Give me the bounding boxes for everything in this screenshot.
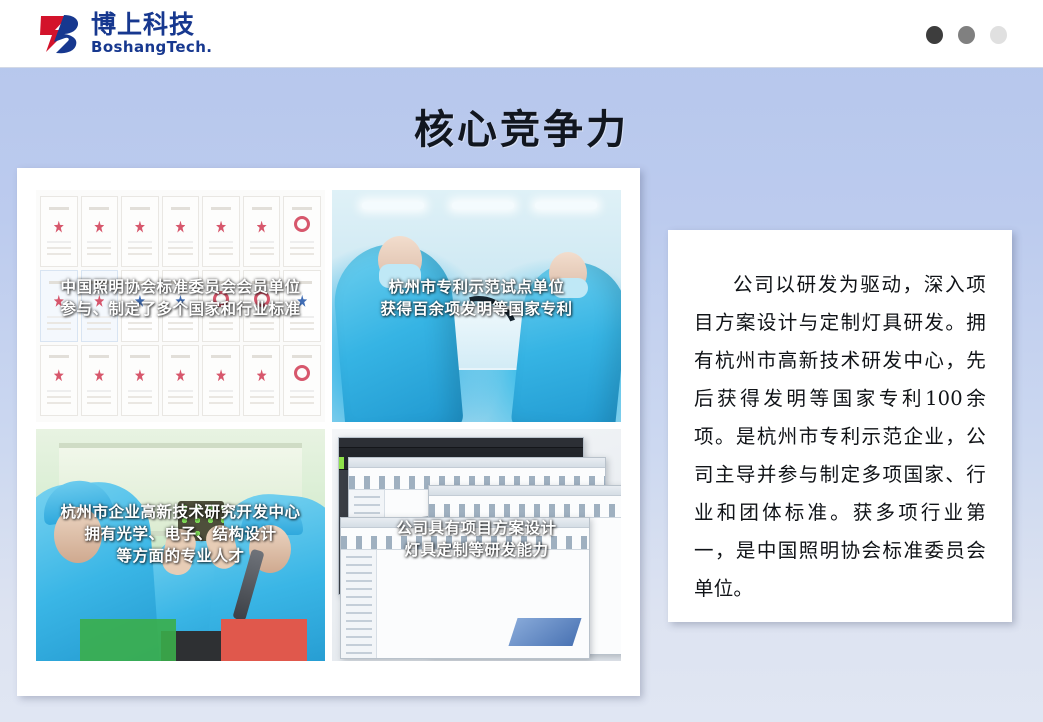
caption-line: 中国照明协会标准委员会会员单位	[36, 276, 325, 298]
logo-name-en: BoshangTech.	[91, 40, 212, 55]
carousel-dot-1[interactable]	[926, 26, 943, 44]
caption-line: 拥有光学、电子、结构设计	[36, 523, 325, 545]
logo-mark-icon	[38, 13, 82, 55]
photo-caption-certificates: 中国照明协会标准委员会会员单位 参与、制定了多个国家和行业标准	[36, 276, 325, 320]
caption-line: 杭州市企业高新技术研究开发中心	[36, 501, 325, 523]
carousel-dot-3[interactable]	[990, 26, 1007, 44]
photo-tile-cleanroom[interactable]: 杭州市专利示范试点单位 获得百余项发明等国家专利	[332, 190, 621, 422]
caption-line: 获得百余项发明等国家专利	[332, 298, 621, 320]
component-tray	[80, 619, 176, 661]
slide-page: 博上科技 BoshangTech. 核心竞争力	[0, 0, 1043, 722]
page-title: 核心竞争力	[0, 97, 1043, 155]
logo-text: 博上科技 BoshangTech.	[91, 12, 212, 55]
ceiling-lamp-icon	[452, 202, 514, 209]
caption-line: 灯具定制等研发能力	[332, 539, 621, 561]
carousel-indicators[interactable]	[926, 26, 1007, 44]
photo-caption-cleanroom: 杭州市专利示范试点单位 获得百余项发明等国家专利	[332, 276, 621, 320]
photo-collage-card: 中国照明协会标准委员会会员单位 参与、制定了多个国家和行业标准	[17, 168, 640, 696]
logo-name-cn: 博上科技	[91, 12, 212, 37]
caption-line: 参与、制定了多个国家和行业标准	[36, 298, 325, 320]
photo-tile-lab-research[interactable]: 杭州市企业高新技术研究开发中心 拥有光学、电子、结构设计 等方面的专业人才	[36, 429, 325, 661]
description-panel: 公司以研发为驱动，深入项目方案设计与定制灯具研发。拥有杭州市高新技术研发中心，先…	[668, 230, 1012, 622]
photo-tile-certificates[interactable]: 中国照明协会标准委员会会员单位 参与、制定了多个国家和行业标准	[36, 190, 325, 422]
caption-line: 杭州市专利示范试点单位	[332, 276, 621, 298]
description-text: 公司以研发为驱动，深入项目方案设计与定制灯具研发。拥有杭州市高新技术研发中心，先…	[668, 230, 1012, 608]
carousel-dot-2[interactable]	[958, 26, 975, 44]
ceiling-lamp-icon	[535, 202, 597, 209]
component-tray	[221, 619, 307, 661]
photo-grid: 中国照明协会标准委员会会员单位 参与、制定了多个国家和行业标准	[36, 190, 621, 675]
header-bar: 博上科技 BoshangTech.	[0, 0, 1043, 68]
photo-caption-lab-research: 杭州市企业高新技术研究开发中心 拥有光学、电子、结构设计 等方面的专业人才	[36, 501, 325, 567]
ceiling-lamp-icon	[362, 202, 424, 209]
company-logo[interactable]: 博上科技 BoshangTech.	[38, 12, 212, 55]
photo-caption-cad-design: 公司具有项目方案设计 灯具定制等研发能力	[332, 517, 621, 561]
caption-line: 公司具有项目方案设计	[332, 517, 621, 539]
photo-tile-cad-design[interactable]: 公司具有项目方案设计 灯具定制等研发能力	[332, 429, 621, 661]
caption-line: 等方面的专业人才	[36, 545, 325, 567]
